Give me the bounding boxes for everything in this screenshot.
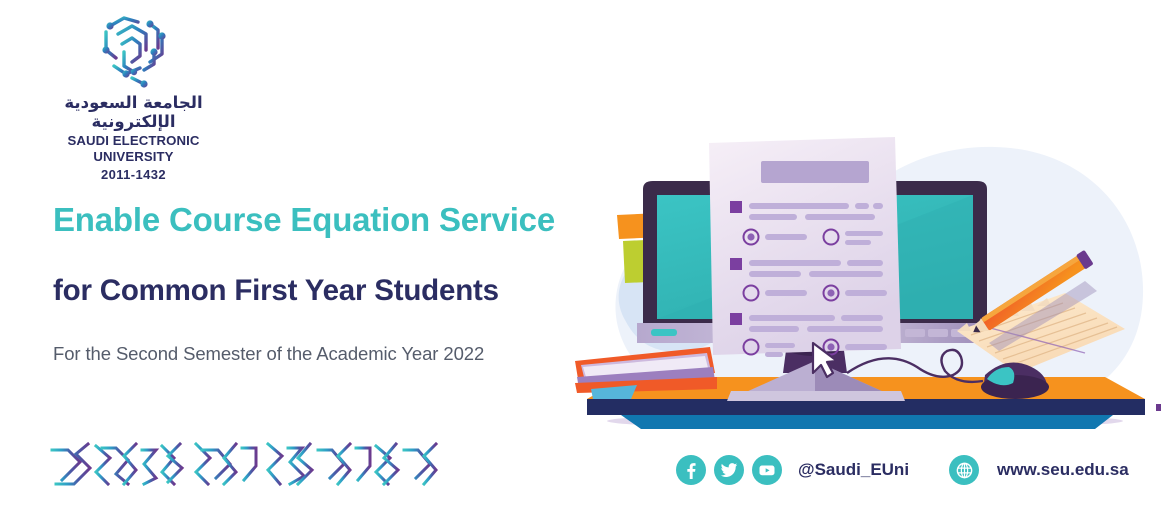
corner-accent-dot bbox=[1156, 404, 1161, 411]
globe-glyph bbox=[955, 461, 974, 480]
twitter-icon[interactable] bbox=[714, 455, 744, 485]
website-url-label[interactable]: www.seu.edu.sa bbox=[997, 460, 1129, 480]
youtube-icon[interactable] bbox=[752, 455, 782, 485]
facebook-glyph bbox=[682, 461, 700, 479]
desktop-computer-survey-form-illustration-icon bbox=[565, 85, 1165, 435]
logo-arabic-name: الجامعة السعودية الإلكترونية bbox=[26, 94, 241, 132]
university-logo-block: الجامعة السعودية الإلكترونية SAUDI ELECT… bbox=[26, 8, 241, 182]
survey-form-document bbox=[709, 137, 901, 380]
circuit-pattern-band-icon bbox=[50, 440, 450, 492]
form-question-4 bbox=[730, 368, 742, 380]
logo-english-name: SAUDI ELECTRONIC UNIVERSITY bbox=[26, 133, 241, 165]
headline-subtitle: For the Second Semester of the Academic … bbox=[53, 345, 613, 364]
footer-social-bar: @Saudi_EUni www.seu.edu.sa bbox=[676, 450, 1129, 490]
form-title-bar bbox=[761, 161, 869, 183]
hexagon-circuit-logo-icon bbox=[88, 8, 180, 92]
youtube-glyph bbox=[758, 461, 776, 479]
twitter-glyph bbox=[720, 461, 738, 479]
logo-established-years: 2011-1432 bbox=[26, 167, 241, 182]
facebook-icon[interactable] bbox=[676, 455, 706, 485]
headline-block: Enable Course Equation Service for Commo… bbox=[53, 203, 613, 363]
headline-primary: Enable Course Equation Service bbox=[53, 203, 613, 236]
globe-icon[interactable] bbox=[949, 455, 979, 485]
promotional-banner: الجامعة السعودية الإلكترونية SAUDI ELECT… bbox=[0, 0, 1165, 507]
headline-secondary: for Common First Year Students bbox=[53, 276, 613, 306]
social-handle-label: @Saudi_EUni bbox=[798, 460, 909, 480]
